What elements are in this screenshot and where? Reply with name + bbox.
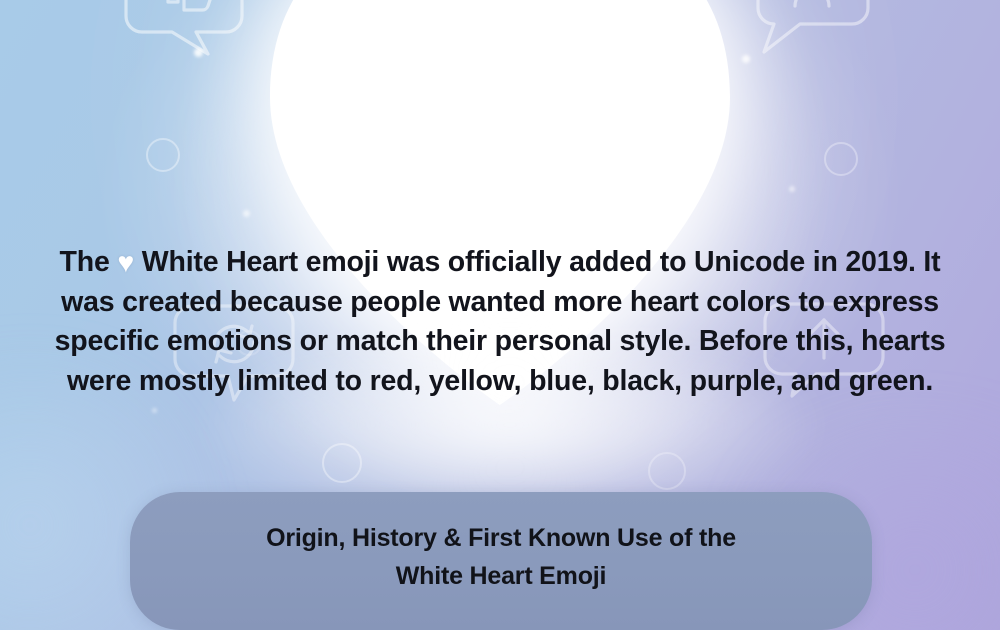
sparkle-dot bbox=[194, 48, 203, 57]
cta-button-label: Origin, History & First Known Use of the… bbox=[226, 519, 776, 595]
body-main-text: White Heart emoji was officially added t… bbox=[55, 246, 946, 397]
white-heart-emoji: ♥ bbox=[117, 244, 134, 284]
circle-outline bbox=[322, 443, 362, 483]
cta-button[interactable]: Origin, History & First Known Use of the… bbox=[130, 492, 872, 630]
speech-bubble-thumbs-up-icon bbox=[118, 0, 250, 62]
body-paragraph: The ♥ White Heart emoji was officially a… bbox=[52, 243, 948, 401]
sparkle-dot bbox=[152, 408, 157, 413]
sparkle-dot bbox=[243, 210, 250, 217]
body-lead-text: The bbox=[60, 246, 118, 278]
circle-outline bbox=[648, 452, 686, 490]
circle-outline bbox=[146, 138, 180, 172]
white-heart-emoji-card: The ♥ White Heart emoji was officially a… bbox=[0, 0, 1000, 630]
sparkle-dot bbox=[789, 186, 795, 192]
speech-bubble-cursor-icon bbox=[748, 0, 876, 58]
circle-outline bbox=[824, 142, 858, 176]
